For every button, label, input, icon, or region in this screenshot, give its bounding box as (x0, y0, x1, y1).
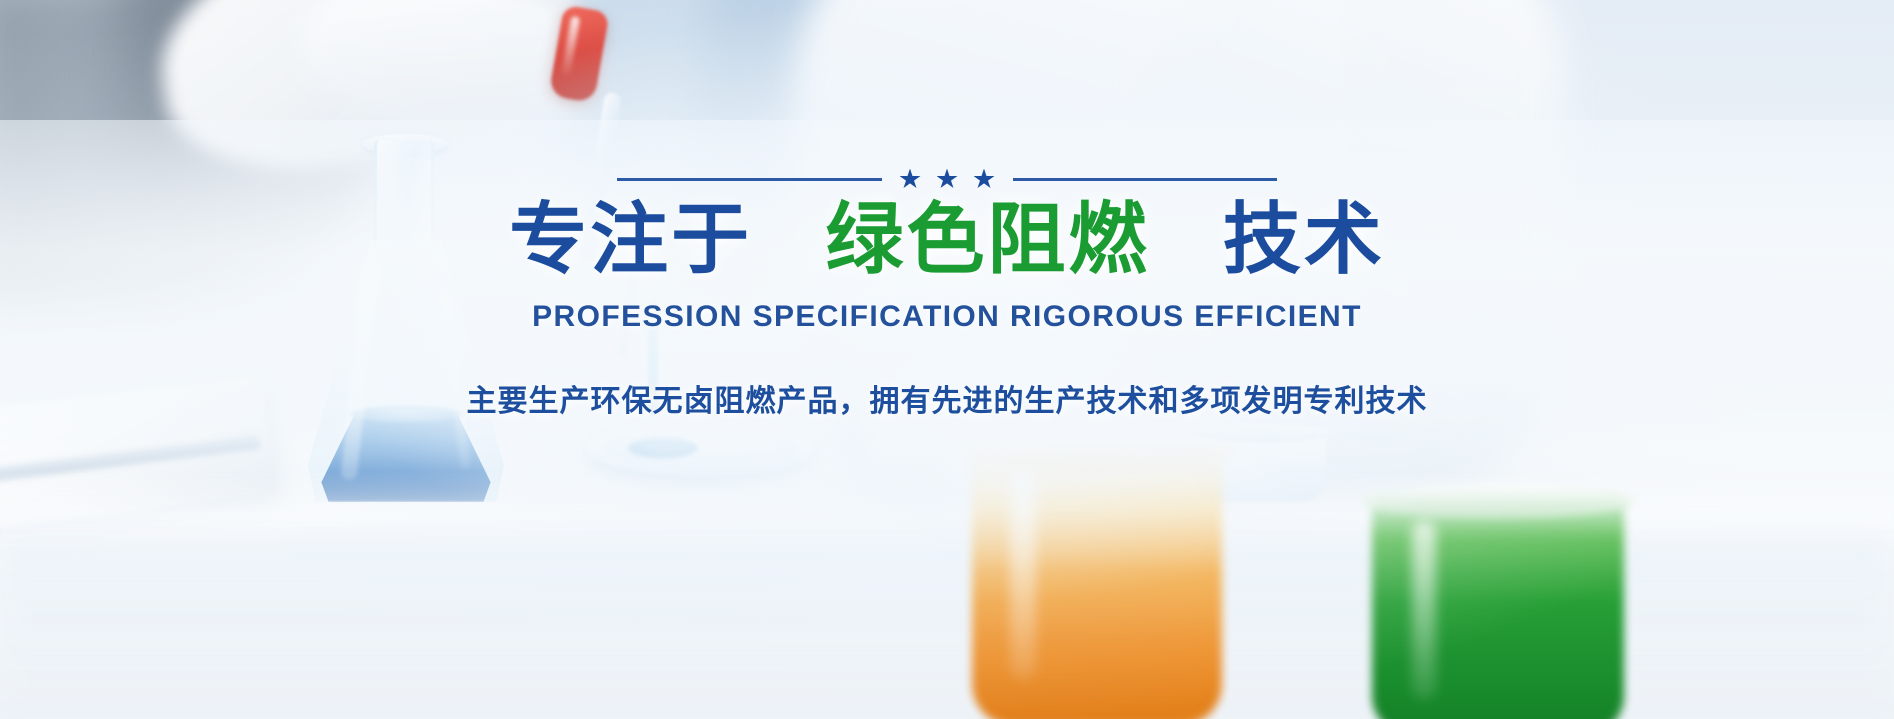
headline-part-2: 绿色阻燃 (825, 195, 1149, 283)
banner-content: 专注于 绿色阻燃 技术 PROFESSION SPECIFICATION RIG… (0, 0, 1894, 719)
star-icon (900, 169, 921, 190)
star-group (882, 169, 1013, 190)
hero-banner: 专注于 绿色阻燃 技术 PROFESSION SPECIFICATION RIG… (0, 0, 1894, 719)
headline-part-1: 专注于 (509, 195, 752, 283)
headline-part-3: 技术 (1223, 195, 1385, 283)
banner-headline: 专注于 绿色阻燃 技术 (509, 200, 1385, 278)
star-icon (974, 169, 995, 190)
divider-rule-right (1013, 178, 1278, 181)
star-icon (937, 169, 958, 190)
divider-with-stars (617, 168, 1277, 190)
banner-subtitle-english: PROFESSION SPECIFICATION RIGOROUS EFFICI… (532, 300, 1362, 334)
banner-tagline-chinese: 主要生产环保无卤阻燃产品，拥有先进的生产技术和多项发明专利技术 (467, 376, 1428, 420)
divider-rule-left (617, 178, 882, 181)
